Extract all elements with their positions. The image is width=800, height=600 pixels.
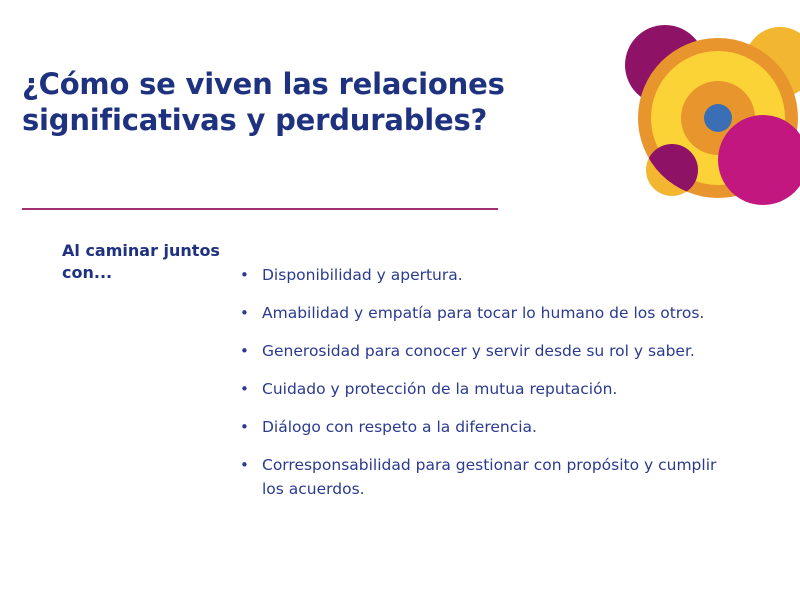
- bullet-dot-icon: •: [238, 301, 262, 325]
- list-item: • Corresponsabilidad para gestionar con …: [238, 453, 798, 501]
- list-item: • Generosidad para conocer y servir desd…: [238, 339, 798, 363]
- bullet-list: • Disponibilidad y apertura. • Amabilida…: [238, 263, 798, 515]
- bottom-right-magenta-circle: [718, 115, 800, 205]
- top-right-gold-circle: [745, 27, 800, 97]
- list-item-text: Generosidad para conocer y servir desde …: [262, 339, 798, 363]
- bottom-left-gold-circle: [646, 144, 698, 196]
- outer-orange-ring: [638, 38, 798, 198]
- blue-center-dot: [704, 104, 732, 132]
- bottom-left-purple-lens: [638, 38, 798, 198]
- concentric-circles-graphic: [615, 8, 800, 208]
- list-item: • Cuidado y protección de la mutua reput…: [238, 377, 798, 401]
- bullet-dot-icon: •: [238, 453, 262, 477]
- list-item-text: Disponibilidad y apertura.: [262, 263, 798, 287]
- list-item-text: Cuidado y protección de la mutua reputac…: [262, 377, 798, 401]
- list-item-text: Amabilidad y empatía para tocar lo human…: [262, 301, 798, 325]
- side-label: Al caminar juntos con...: [62, 240, 232, 284]
- list-item-text: Diálogo con respeto a la diferencia.: [262, 415, 798, 439]
- top-left-purple-circle: [625, 25, 705, 105]
- yellow-ring: [651, 51, 785, 185]
- list-item-text: Corresponsabilidad para gestionar con pr…: [262, 453, 732, 501]
- bullet-dot-icon: •: [238, 263, 262, 287]
- bullet-dot-icon: •: [238, 377, 262, 401]
- slide-canvas: ¿Cómo se viven las relaciones significat…: [0, 0, 800, 600]
- title-divider: [22, 208, 498, 210]
- list-item: • Diálogo con respeto a la diferencia.: [238, 415, 798, 439]
- page-title: ¿Cómo se viven las relaciones significat…: [22, 66, 522, 138]
- list-item: • Amabilidad y empatía para tocar lo hum…: [238, 301, 798, 325]
- inner-orange-disc: [681, 81, 755, 155]
- bullet-dot-icon: •: [238, 415, 262, 439]
- list-item: • Disponibilidad y apertura.: [238, 263, 798, 287]
- bullet-dot-icon: •: [238, 339, 262, 363]
